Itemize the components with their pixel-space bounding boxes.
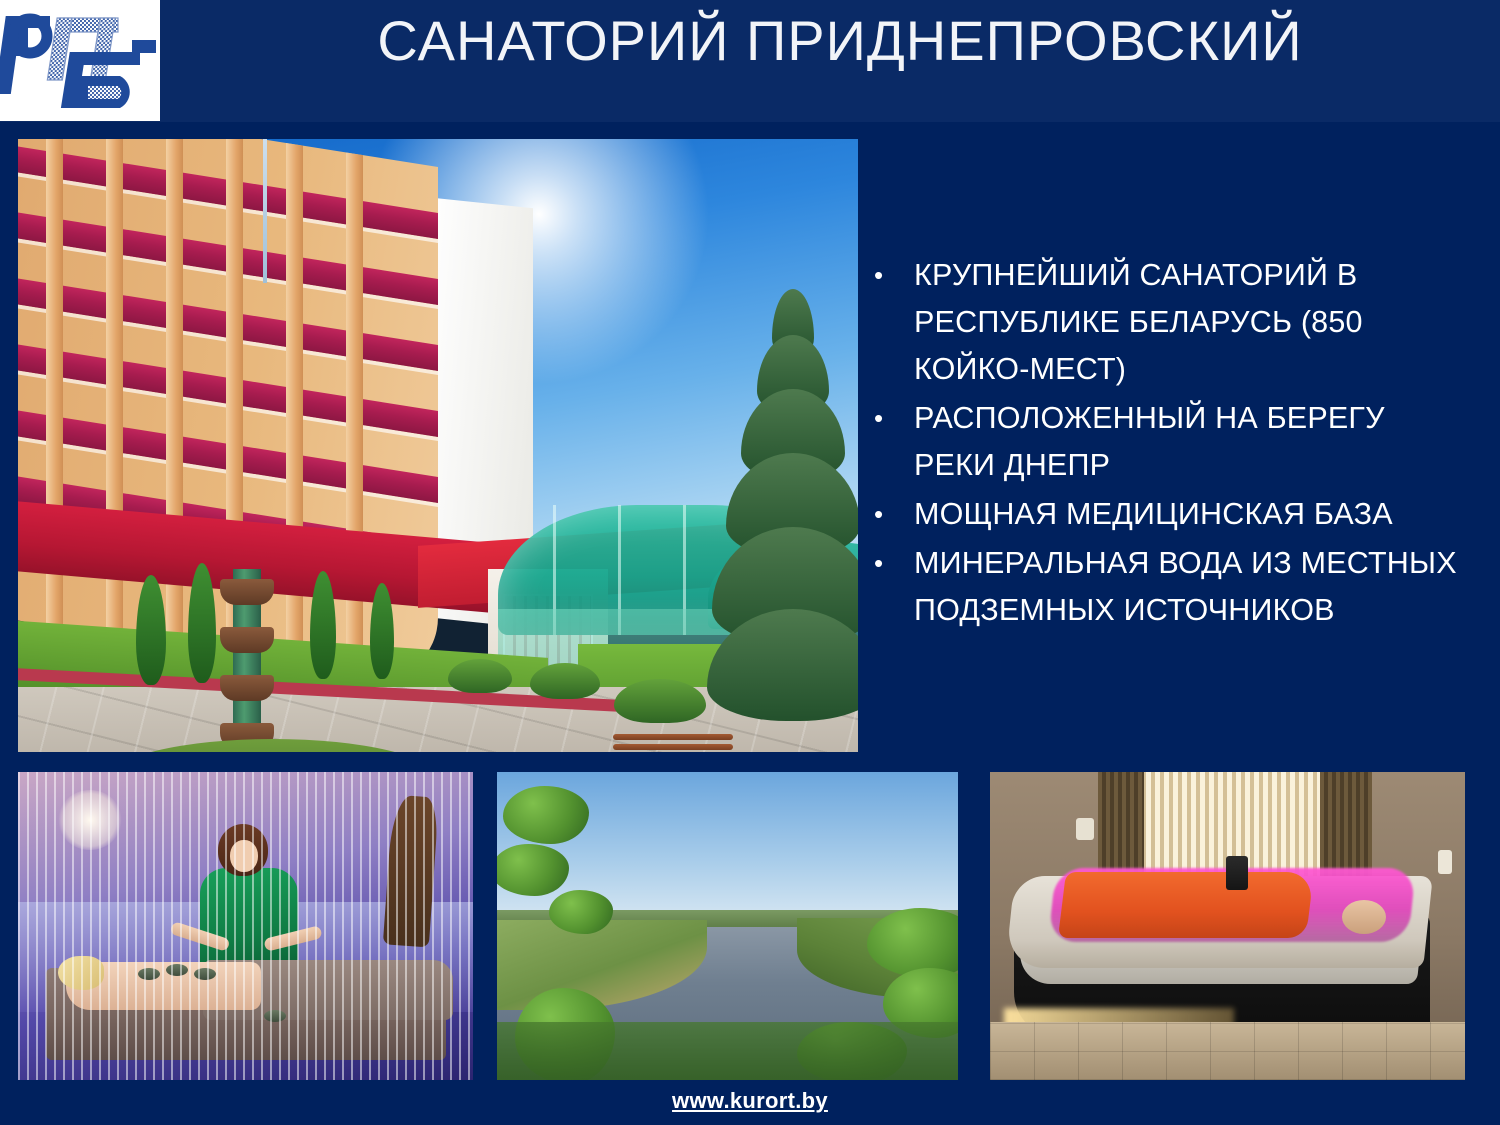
flower-column bbox=[233, 569, 261, 752]
wall-socket bbox=[1076, 818, 1094, 840]
chromotherapy-bed-photo bbox=[990, 772, 1465, 1080]
dnieper-river-photo bbox=[497, 772, 958, 1080]
list-item-label: МИНЕРАЛЬНАЯ ВОДА ИЗ МЕСТНЫХ ПОДЗЕМНЫХ ИС… bbox=[914, 540, 1466, 634]
list-item-label: КРУПНЕЙШИЙ САНАТОРИЙ В РЕСПУБЛИКЕ БЕЛАРУ… bbox=[914, 252, 1466, 393]
list-item: • МИНЕРАЛЬНАЯ ВОДА ИЗ МЕСТНЫХ ПОДЗЕМНЫХ … bbox=[866, 540, 1466, 634]
list-item: • МОЩНАЯ МЕДИЦИНСКАЯ БАЗА bbox=[866, 491, 1466, 538]
website-link[interactable]: www.kurort.by bbox=[0, 1088, 1500, 1114]
bullet-marker-icon: • bbox=[866, 491, 914, 538]
string-curtain bbox=[18, 772, 473, 1080]
shrub bbox=[530, 663, 600, 699]
bullet-marker-icon: • bbox=[866, 540, 914, 587]
shrub bbox=[614, 679, 706, 723]
list-item: • КРУПНЕЙШИЙ САНАТОРИЙ В РЕСПУБЛИКЕ БЕЛА… bbox=[866, 252, 1466, 393]
list-item-label: МОЩНАЯ МЕДИЦИНСКАЯ БАЗА bbox=[914, 491, 1466, 538]
orange-blanket bbox=[1058, 872, 1314, 938]
shrub bbox=[448, 659, 512, 693]
feature-list: • КРУПНЕЙШИЙ САНАТОРИЙ В РЕСПУБЛИКЕ БЕЛА… bbox=[866, 252, 1466, 636]
list-item-label: РАСПОЛОЖЕННЫЙ НА БЕРЕГУ РЕКИ ДНЕПР bbox=[914, 395, 1466, 489]
presentation-slide: САНАТОРИЙ ПРИДНЕПРОВСКИЙ bbox=[0, 0, 1500, 1125]
spruce-tree bbox=[708, 289, 858, 719]
oak-branch bbox=[497, 844, 569, 896]
bullet-marker-icon: • bbox=[866, 252, 914, 299]
list-item: • РАСПОЛОЖЕННЫЙ НА БЕРЕГУ РЕКИ ДНЕПР bbox=[866, 395, 1466, 489]
antenna-mast bbox=[263, 139, 267, 283]
fpb-logo-icon bbox=[0, 0, 160, 121]
patient-head bbox=[1342, 900, 1386, 934]
page-title: САНАТОРИЙ ПРИДНЕПРОВСКИЙ bbox=[200, 8, 1480, 73]
stone-massage-photo bbox=[18, 772, 473, 1080]
park-bench bbox=[613, 734, 733, 752]
sanatorium-building-photo bbox=[18, 139, 858, 752]
foreground-vegetation bbox=[497, 1022, 958, 1080]
light-switch bbox=[1438, 850, 1452, 874]
tiled-floor bbox=[990, 1022, 1465, 1080]
oak-branch bbox=[503, 786, 589, 844]
foliage bbox=[549, 890, 613, 934]
bullet-marker-icon: • bbox=[866, 395, 914, 442]
control-panel bbox=[1226, 856, 1248, 890]
fpb-logo bbox=[0, 0, 160, 121]
